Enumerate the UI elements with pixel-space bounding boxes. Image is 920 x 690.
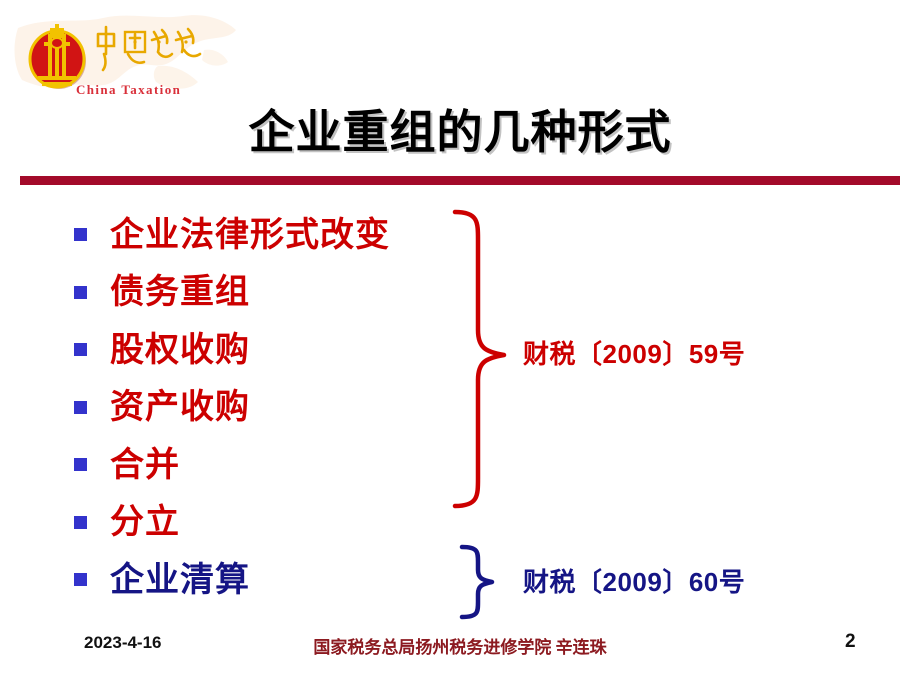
logo-block: China Taxation [8,6,238,102]
bullet-square-icon [74,286,87,299]
bullet-square-icon [74,573,87,586]
bullet-square-icon [74,343,87,356]
list-item-label: 企业清算 [110,563,250,597]
list-item[interactable]: 股权收购 [74,321,474,379]
list-item[interactable]: 企业法律形式改变 [74,206,474,264]
list-item-label: 分立 [110,505,180,539]
annotation-caishui-59: 财税〔2009〕59号 [523,334,745,371]
slide-canvas: China Taxation 企业重组的几种形式 企业法律形式改变 债务重组 股… [0,0,920,690]
list-item-label: 债务重组 [110,275,250,309]
list-item[interactable]: 债务重组 [74,264,474,322]
bullet-square-icon [74,516,87,529]
list-item[interactable]: 分立 [74,494,474,552]
list-item-label: 资产收购 [110,390,250,424]
footer-organization: 国家税务总局扬州税务进修学院 辛连珠 [0,633,920,658]
bullet-square-icon [74,401,87,414]
list-item-label: 股权收购 [110,333,250,367]
annotation-caishui-60: 财税〔2009〕60号 [523,562,745,599]
bullet-square-icon [74,228,87,241]
title-divider-rule [20,176,900,185]
list-item-label: 企业法律形式改变 [110,218,390,252]
china-taxation-calligraphy [92,24,204,76]
page-title: 企业重组的几种形式 [0,96,920,162]
restructuring-forms-list: 企业法律形式改变 债务重组 股权收购 资产收购 合并 分立 企业清算 [74,206,474,609]
bullet-square-icon [74,458,87,471]
footer-page-number: 2 [845,631,856,653]
list-item-label: 合并 [110,448,180,482]
list-item[interactable]: 企业清算 [74,551,474,609]
list-item[interactable]: 资产收购 [74,379,474,437]
list-item[interactable]: 合并 [74,436,474,494]
